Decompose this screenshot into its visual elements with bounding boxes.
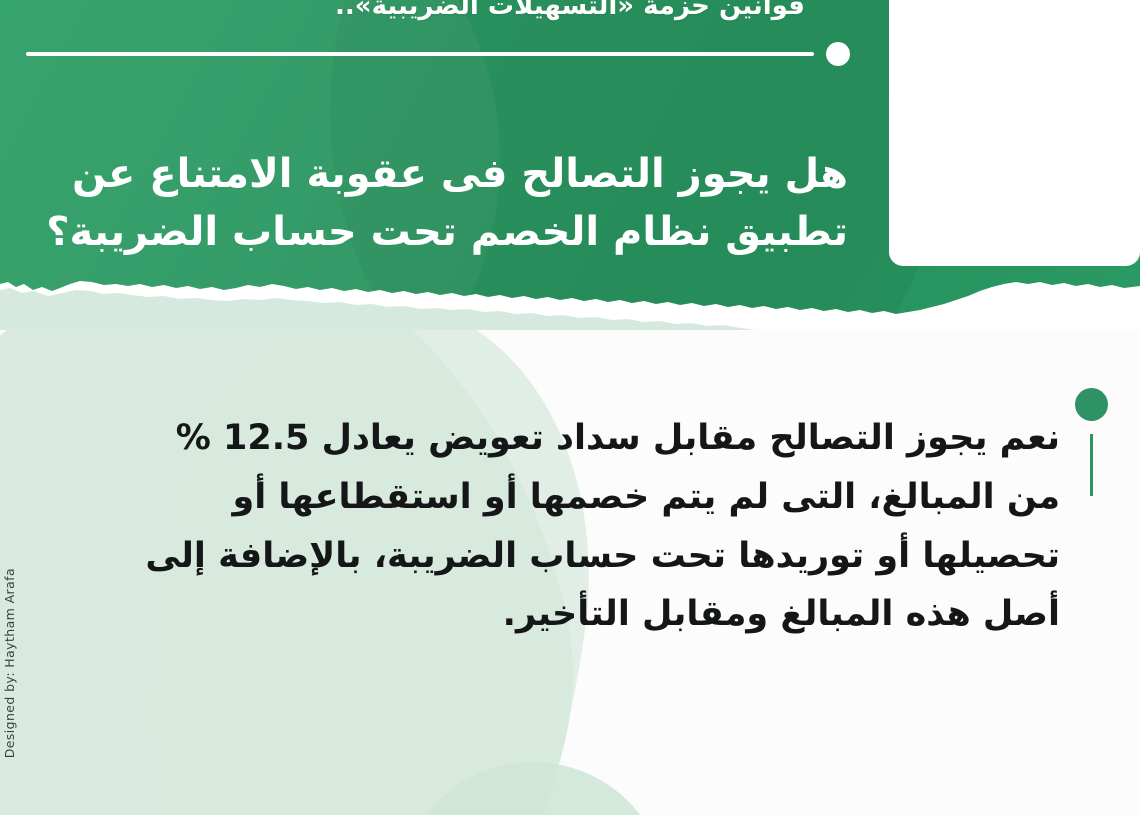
torn-paper-edge: [0, 260, 1140, 330]
divider-dot-icon: [826, 42, 850, 66]
divider-line: [26, 52, 814, 56]
question-headline: هل يجوز التصالح فى عقوبة الامتناع عن تطب…: [28, 145, 848, 261]
kicker-text: قوانين حزمة «التسهيلات الضريبية»..: [335, 0, 805, 21]
answer-bullet-column: [1060, 372, 1122, 496]
logo-panel: MINISTRY OF FINANCE: [889, 0, 1140, 266]
answer-bullet-stem: [1090, 434, 1093, 496]
divider-rule: [26, 42, 850, 66]
designer-credit: Designed by: Haytham Arafa: [2, 568, 17, 758]
header-banner: قوانين حزمة «التسهيلات الضريبية».. هل يج…: [0, 0, 1140, 330]
answer-bullet-dot-icon: [1075, 388, 1108, 421]
answer-block: نعم يجوز التصالح مقابل سداد تعويض يعادل …: [122, 372, 1122, 679]
infographic-canvas: قوانين حزمة «التسهيلات الضريبية».. هل يج…: [0, 0, 1140, 815]
answer-text: نعم يجوز التصالح مقابل سداد تعويض يعادل …: [122, 407, 1060, 644]
